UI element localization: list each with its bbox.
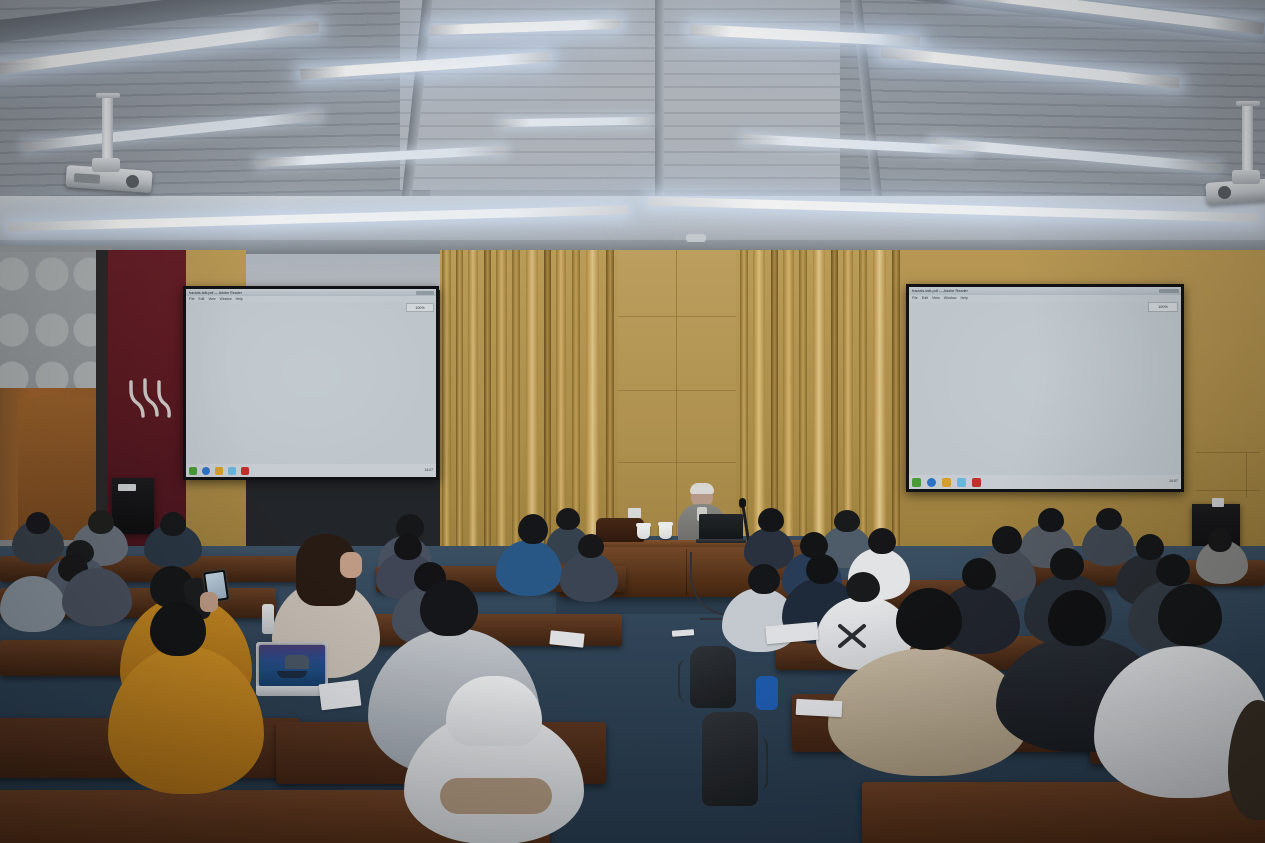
wall-slat [572, 250, 580, 550]
acoustic-panel [0, 252, 100, 392]
zoom-level-field[interactable]: 100% [1148, 302, 1178, 312]
wall-slat [753, 250, 765, 550]
menu-item-edit[interactable]: Edit [922, 296, 928, 300]
window-menubar[interactable]: File Edit View Window Help [186, 296, 436, 302]
zoom-level-value: 100% [415, 306, 424, 310]
audience-head [160, 512, 186, 536]
teacup-2-lid [658, 522, 673, 526]
microphone-head-icon [739, 498, 746, 508]
audience-head [758, 508, 784, 532]
lecture-hall-photo: fractals-talk.pdf — Adobe Reader File Ed… [0, 0, 1265, 843]
menu-item-window[interactable]: Window [220, 297, 232, 301]
audience-head [26, 512, 50, 534]
menu-item-file[interactable]: File [189, 297, 194, 301]
menu-item-view[interactable]: View [932, 296, 940, 300]
wall-tan-seam-1 [1196, 452, 1260, 453]
wall-slat [606, 250, 614, 550]
pdf-icon[interactable] [972, 478, 981, 487]
audience-head [150, 602, 206, 656]
audience-head [896, 588, 962, 650]
wallpaper-boat [277, 671, 307, 678]
screen-glow [186, 289, 436, 477]
audience-head [1038, 508, 1064, 532]
projector-mount-arm [1232, 170, 1260, 184]
backpack-1 [690, 646, 736, 708]
podium-panel-seam [686, 549, 687, 595]
wall-slat [468, 250, 478, 550]
loudspeaker-right-badge [1212, 498, 1224, 507]
audience-head [88, 510, 114, 534]
panel-seam-h3 [618, 462, 736, 463]
projector-ceiling-plate [96, 93, 120, 98]
zoom-level-field[interactable]: 100% [406, 303, 434, 312]
os-taskbar[interactable]: 14:07 [186, 464, 436, 477]
audience-head [1158, 584, 1222, 646]
fur-trim [440, 778, 552, 814]
menu-item-view[interactable]: View [208, 297, 215, 301]
mail-icon[interactable] [957, 478, 966, 487]
audience-head [1136, 534, 1164, 560]
backpack-1-strap [678, 660, 696, 702]
folder-icon[interactable] [215, 467, 223, 475]
audience-head [868, 528, 896, 554]
wall-switch-plate[interactable] [628, 508, 641, 518]
menu-item-help[interactable]: Help [961, 296, 968, 300]
taskbar-clock: 14:07 [1169, 479, 1178, 483]
audience-face [340, 552, 362, 578]
projector-left [62, 96, 174, 198]
panel-seam-v [676, 250, 677, 550]
backpack-2-strap [752, 736, 768, 790]
audience-head [420, 580, 478, 636]
audience-head [748, 564, 780, 594]
browser-icon[interactable] [202, 467, 210, 475]
audience-head [1050, 548, 1084, 580]
window-title: fractals-talk.pdf — Adobe Reader [186, 291, 242, 295]
laptop-screen-wallpaper [259, 645, 325, 686]
audience-head [394, 534, 422, 560]
menu-item-help[interactable]: Help [236, 297, 243, 301]
audience-head [992, 526, 1022, 554]
audience-head [806, 554, 838, 584]
screen-right-content: fractals-talk.pdf — Adobe Reader File Ed… [909, 287, 1181, 489]
wall-slat [484, 250, 491, 550]
window-titlebar[interactable]: fractals-talk.pdf — Adobe Reader [909, 287, 1181, 295]
audience-head [1096, 508, 1122, 530]
wall-slat [544, 250, 551, 550]
wall-slat [843, 250, 853, 550]
menu-item-edit[interactable]: Edit [198, 297, 204, 301]
mail-icon[interactable] [228, 467, 236, 475]
audience-head [578, 534, 604, 558]
projector-ceiling-plate [1236, 101, 1260, 106]
panel-seam-h2 [618, 390, 736, 391]
wall-tan-seam-3 [1246, 452, 1247, 498]
projector-right [1204, 104, 1265, 212]
window-menubar[interactable]: File Edit View Window Help [909, 295, 1181, 302]
wall-slat [859, 250, 867, 550]
hand [200, 592, 218, 612]
window-title: fractals-talk.pdf — Adobe Reader [909, 289, 968, 293]
menu-item-file[interactable]: File [912, 296, 918, 300]
arrow-logo-icon [838, 622, 884, 653]
teacup-1-lid [636, 523, 651, 527]
audience-head [1208, 528, 1232, 552]
audience-head [834, 510, 860, 532]
presenter-laptop-screen[interactable] [699, 514, 743, 540]
screen-glow [909, 287, 1181, 489]
start-icon[interactable] [912, 478, 921, 487]
wall-slat [512, 250, 520, 550]
wall-slat [873, 250, 886, 550]
window-control-buttons[interactable] [1159, 289, 1179, 293]
wallpaper-mountain [285, 655, 309, 669]
wall-slat [586, 250, 599, 550]
wall-slat [496, 250, 507, 550]
pdf-icon[interactable] [241, 467, 249, 475]
loudspeaker-left-badge [118, 484, 136, 491]
audience-head [846, 572, 880, 602]
wall-tan-seam-2 [1196, 490, 1260, 491]
water-bottle [262, 604, 274, 634]
audience-head [962, 558, 996, 590]
wall-slat [783, 250, 794, 550]
wall-slat [526, 250, 538, 550]
presenter-laptop-base[interactable] [696, 539, 746, 543]
backpack-2 [702, 712, 758, 806]
laptop-keyboard[interactable] [256, 686, 328, 696]
audience-head [556, 508, 580, 530]
projector-vent [74, 173, 101, 184]
start-icon[interactable] [189, 467, 197, 475]
zoom-level-value: 100% [1158, 305, 1168, 309]
wall-slat [892, 250, 900, 550]
wall-slat [556, 250, 566, 550]
smoke-detector-icon [686, 234, 706, 242]
window-control-buttons[interactable] [416, 291, 434, 295]
slat-wall [440, 250, 910, 550]
taskbar-clock: 14:07 [425, 468, 434, 472]
presenter-hair [690, 483, 714, 494]
wall-slat [771, 250, 778, 550]
wavy-lines-emblem [124, 372, 172, 424]
menu-item-window[interactable]: Window [944, 296, 957, 300]
blue-bag [756, 676, 778, 710]
audience-head [1048, 590, 1106, 646]
wall-slat [799, 250, 807, 550]
wall-slat [442, 250, 451, 550]
attendee-laptop[interactable] [256, 642, 328, 696]
projector-mount-arm [92, 158, 120, 172]
folder-icon[interactable] [942, 478, 951, 487]
projection-screen-left[interactable]: fractals-talk.pdf — Adobe Reader File Ed… [183, 286, 439, 480]
audience-head [1156, 554, 1190, 586]
teacup-2 [659, 524, 672, 539]
browser-icon[interactable] [927, 478, 936, 487]
teacup-1 [637, 525, 650, 539]
wall-slat [831, 250, 838, 550]
projection-screen-right[interactable]: fractals-talk.pdf — Adobe Reader File Ed… [906, 284, 1184, 492]
screen-left-content: fractals-talk.pdf — Adobe Reader File Ed… [186, 289, 436, 477]
window-titlebar[interactable]: fractals-talk.pdf — Adobe Reader [186, 289, 436, 296]
os-taskbar[interactable]: 14:07 [909, 475, 1181, 489]
papers-on-desk [319, 680, 362, 711]
panel-seam-h1 [618, 316, 736, 317]
wall-slat [456, 250, 463, 550]
wall-slat [813, 250, 825, 550]
papers-on-desk [796, 699, 843, 717]
audience-head [518, 514, 548, 544]
